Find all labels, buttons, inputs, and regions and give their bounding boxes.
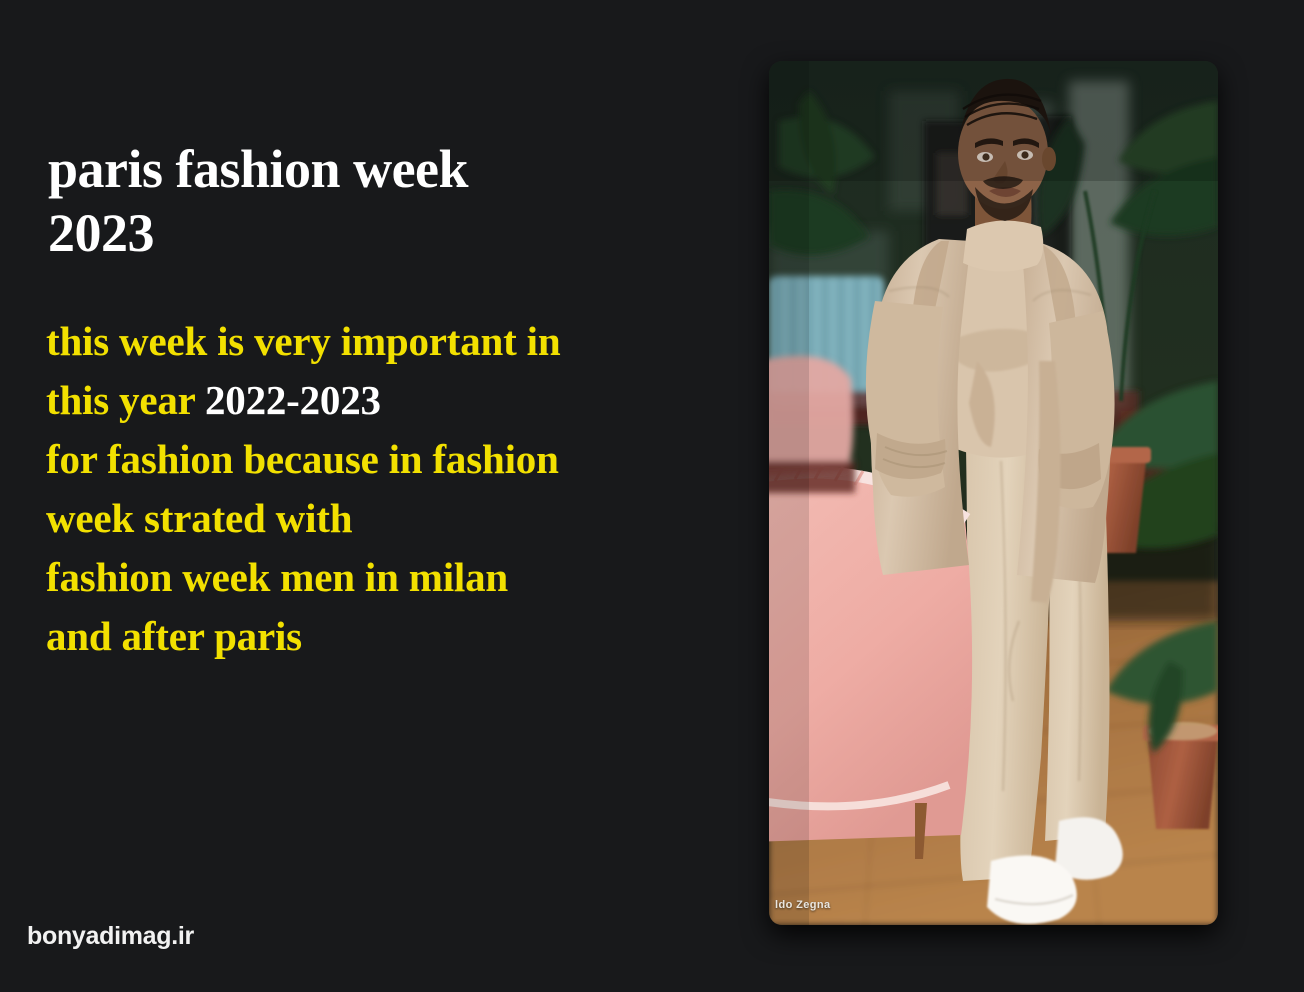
copy-line-1: this week is very important in (46, 312, 726, 371)
copy-line-4: week strated with (46, 489, 726, 548)
copy-line-3: for fashion because in fashion (46, 430, 726, 489)
photo-credit-watermark: ldo Zegna (775, 899, 831, 911)
body-copy: this week is very important in this year… (46, 312, 726, 666)
poster-canvas: paris fashion week 2023 this week is ver… (0, 0, 1304, 992)
copy-line-2-text: this year (46, 377, 205, 423)
copy-line-5: fashion week men in milan (46, 548, 726, 607)
copy-line-6: and after paris (46, 607, 726, 666)
fashion-photo-illustration (769, 61, 1218, 925)
copy-line-2: this year 2022-2023 (46, 371, 726, 430)
site-watermark: bonyadimag.ir (27, 922, 194, 951)
page-title: paris fashion week 2023 (48, 138, 688, 265)
copy-line-2-highlight: 2022-2023 (205, 377, 381, 423)
fashion-photo: ldo Zegna (769, 61, 1218, 925)
